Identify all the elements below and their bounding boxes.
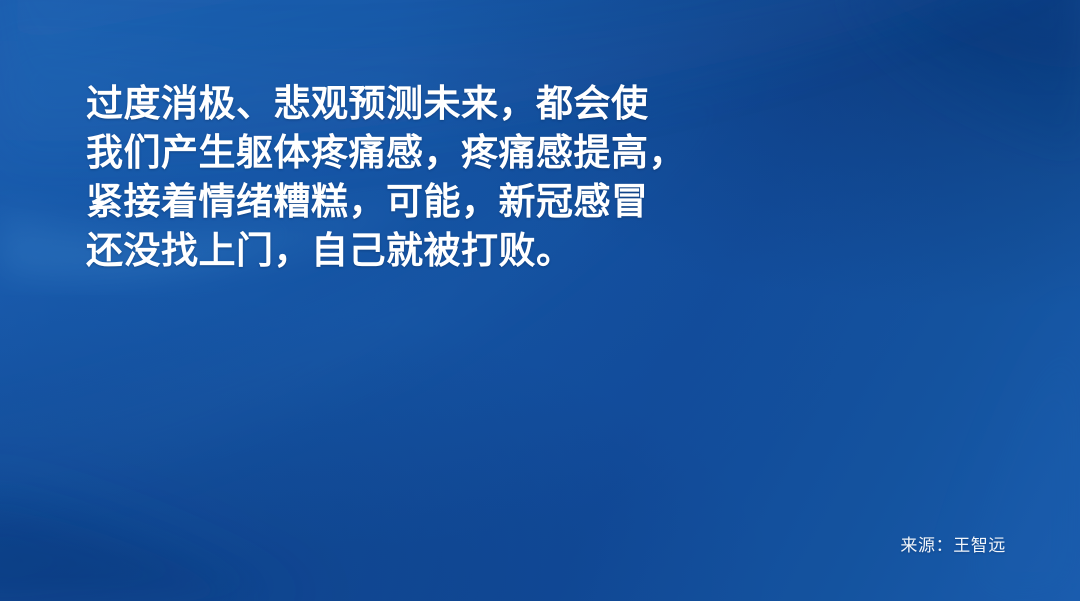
quote-line-4: 还没找上门，自己就被打败。 (86, 227, 846, 276)
quote-line-1: 过度消极、悲观预测未来，都会使 (86, 80, 846, 129)
slide-canvas: 过度消极、悲观预测未来，都会使 我们产生躯体疼痛感，疼痛感提高， 紧接着情绪糟糕… (0, 0, 1080, 601)
quote-block: 过度消极、悲观预测未来，都会使 我们产生躯体疼痛感，疼痛感提高， 紧接着情绪糟糕… (86, 80, 846, 276)
quote-line-2: 我们产生躯体疼痛感，疼痛感提高， (86, 129, 846, 178)
quote-line-3: 紧接着情绪糟糕，可能，新冠感冒 (86, 178, 846, 227)
attribution-source: 来源：王智远 (900, 536, 1006, 556)
